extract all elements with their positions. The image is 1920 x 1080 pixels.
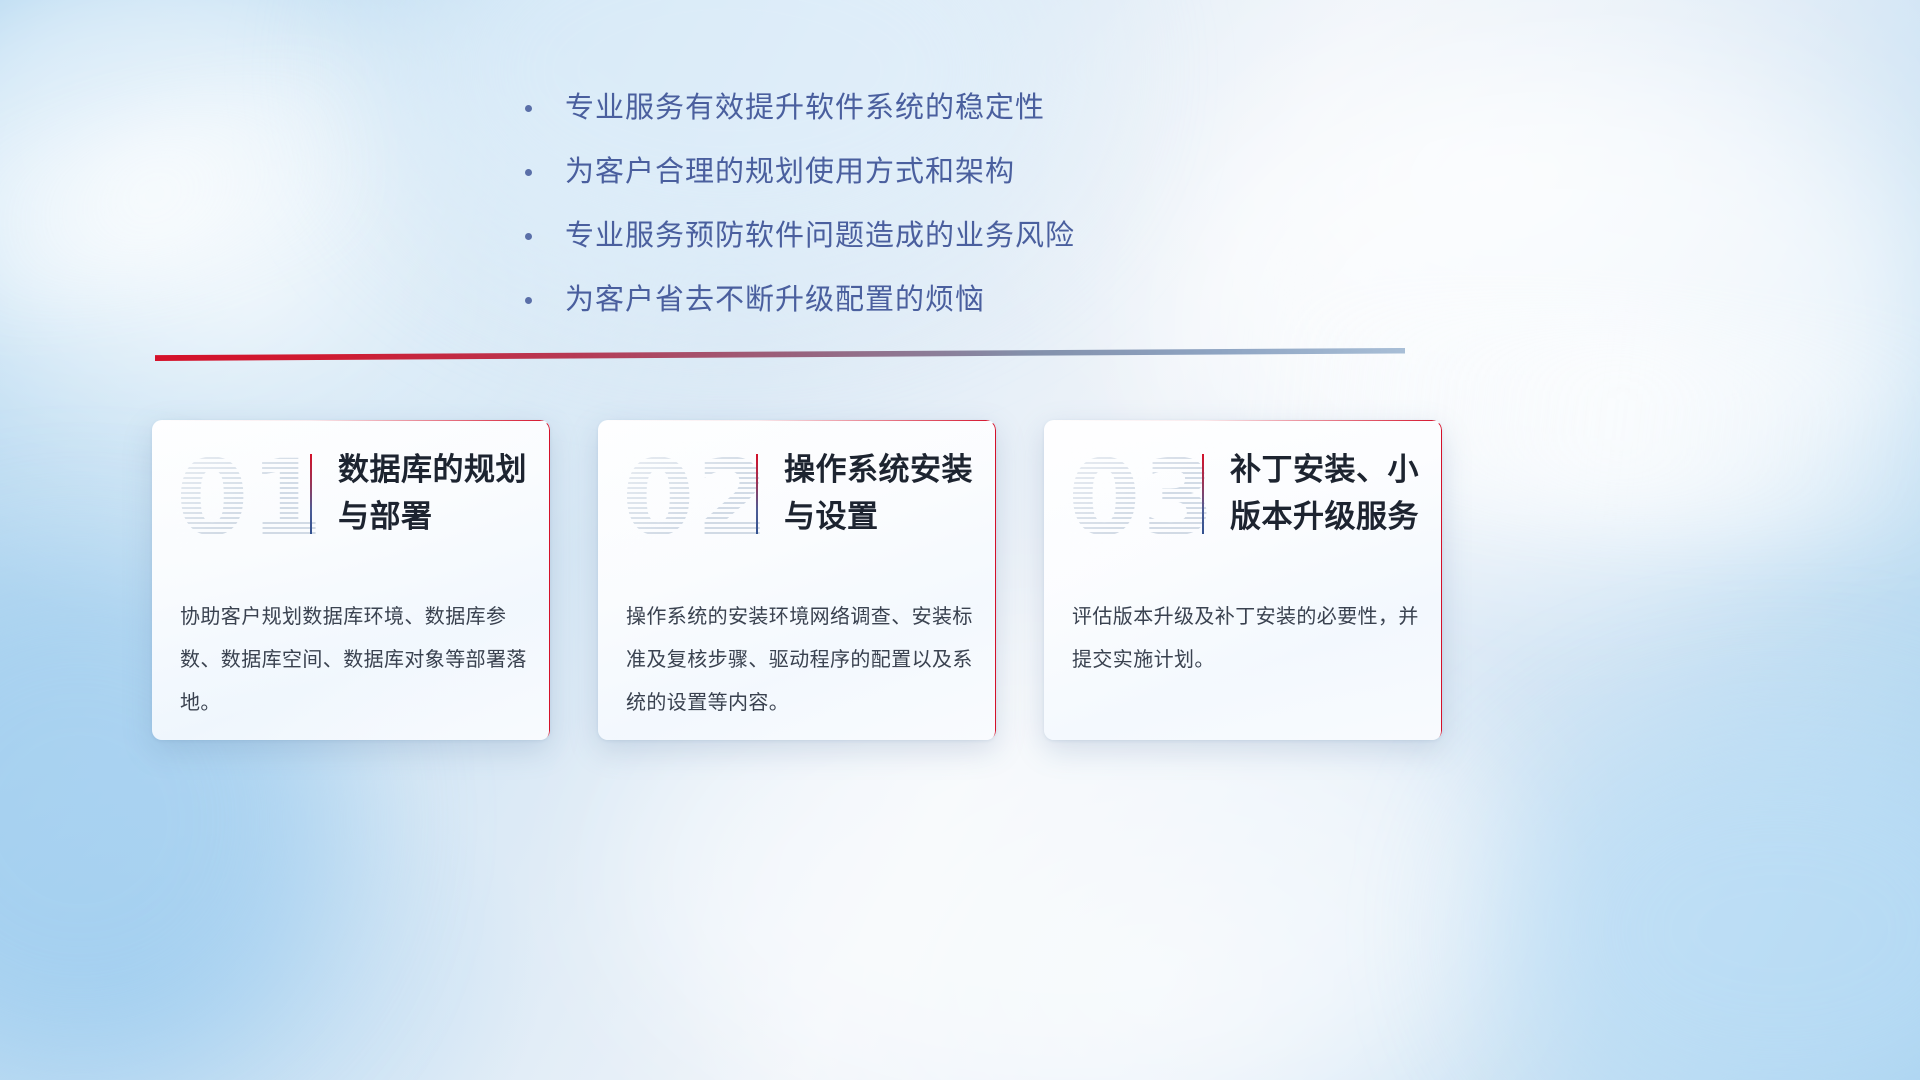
card-title-divider-bar [756, 454, 758, 534]
service-card-01[interactable]: 01 数据库的规划与部署 协助客户规划数据库环境、数据库参数、数据库空间、数据库… [152, 420, 550, 740]
card-title-divider-bar [310, 454, 312, 534]
section-divider [155, 348, 1405, 361]
card-title: 补丁安装、小版本升级服务 [1230, 446, 1426, 540]
background-light-streak-1 [0, 70, 382, 320]
card-header: 02 操作系统安装与设置 [598, 420, 996, 592]
card-body-text: 评估版本升级及补丁安装的必要性，并提交实施计划。 [1072, 596, 1420, 682]
service-card-02[interactable]: 02 操作系统安装与设置 操作系统的安装环境网络调查、安装标准及复核步骤、驱动程… [598, 420, 996, 740]
divider-edge [155, 348, 1405, 361]
benefits-bullet-list: 专业服务有效提升软件系统的稳定性 为客户合理的规划使用方式和架构 专业服务预防软… [525, 86, 1285, 322]
bullet-dot-icon [525, 233, 532, 240]
bullet-text: 为客户省去不断升级配置的烦恼 [565, 278, 985, 322]
background-glow-6 [1500, 720, 1920, 1080]
bullet-text: 专业服务预防软件问题造成的业务风险 [565, 214, 1075, 258]
card-title: 操作系统安装与设置 [784, 446, 980, 540]
list-item: 专业服务预防软件问题造成的业务风险 [525, 214, 1285, 258]
bullet-dot-icon [525, 105, 532, 112]
background-glow-1 [0, 0, 400, 360]
card-title-divider-bar [1202, 454, 1204, 534]
card-body-text: 操作系统的安装环境网络调查、安装标准及复核步骤、驱动程序的配置以及系统的设置等内… [626, 596, 974, 725]
list-item: 为客户省去不断升级配置的烦恼 [525, 278, 1285, 322]
bullet-text: 为客户合理的规划使用方式和架构 [565, 150, 1015, 194]
bullet-text: 专业服务有效提升软件系统的稳定性 [565, 86, 1045, 130]
list-item: 为客户合理的规划使用方式和架构 [525, 150, 1285, 194]
card-title: 数据库的规划与部署 [338, 446, 534, 540]
bullet-dot-icon [525, 297, 532, 304]
service-card-03[interactable]: 03 补丁安装、小版本升级服务 评估版本升级及补丁安装的必要性，并提交实施计划。 [1044, 420, 1442, 740]
card-header: 01 数据库的规划与部署 [152, 420, 550, 592]
card-body-text: 协助客户规划数据库环境、数据库参数、数据库空间、数据库对象等部署落地。 [180, 596, 528, 725]
list-item: 专业服务有效提升软件系统的稳定性 [525, 86, 1285, 130]
card-header: 03 补丁安装、小版本升级服务 [1044, 420, 1442, 592]
bullet-dot-icon [525, 169, 532, 176]
slide-canvas: 专业服务有效提升软件系统的稳定性 为客户合理的规划使用方式和架构 专业服务预防软… [0, 0, 1920, 1080]
